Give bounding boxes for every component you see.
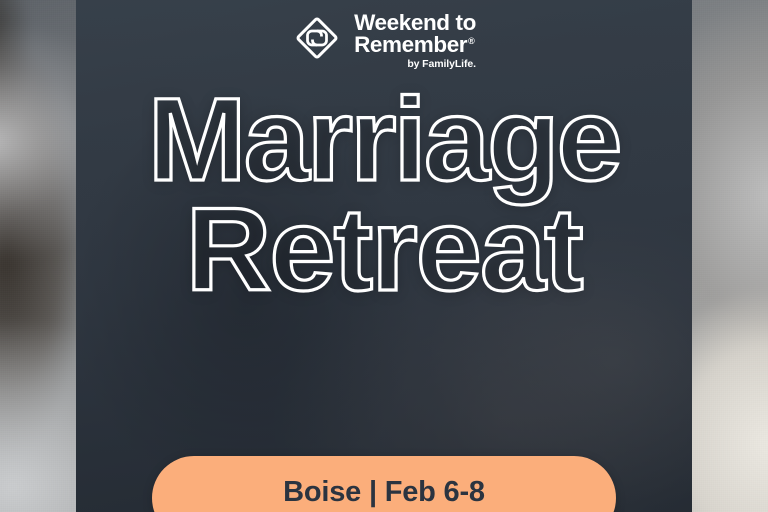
headline-line-2: Retreat (76, 196, 692, 306)
brand-wordmark: Weekend to Remember® by FamilyLife. (354, 12, 476, 70)
headline-line-1: Marriage (76, 86, 692, 196)
registered-trademark-mark: ® (468, 36, 474, 46)
brand-line-1: Weekend to (354, 12, 476, 34)
marriage-retreat-promo-poster: Weekend to Remember® by FamilyLife. Marr… (0, 0, 768, 512)
brand-sub-line: by FamilyLife. (407, 59, 476, 70)
poster-content: Weekend to Remember® by FamilyLife. Marr… (76, 0, 692, 512)
brand-lockup: Weekend to Remember® by FamilyLife. (76, 12, 692, 70)
headline: Marriage Retreat (76, 86, 692, 305)
event-details-label: Boise | Feb 6-8 (283, 476, 485, 509)
brand-line-2: Remember® (354, 34, 476, 56)
event-details-pill[interactable]: Boise | Feb 6-8 (152, 456, 616, 512)
interlocking-rings-diamond-logo-icon (292, 13, 342, 63)
brand-line-2-text: Remember (354, 32, 467, 57)
